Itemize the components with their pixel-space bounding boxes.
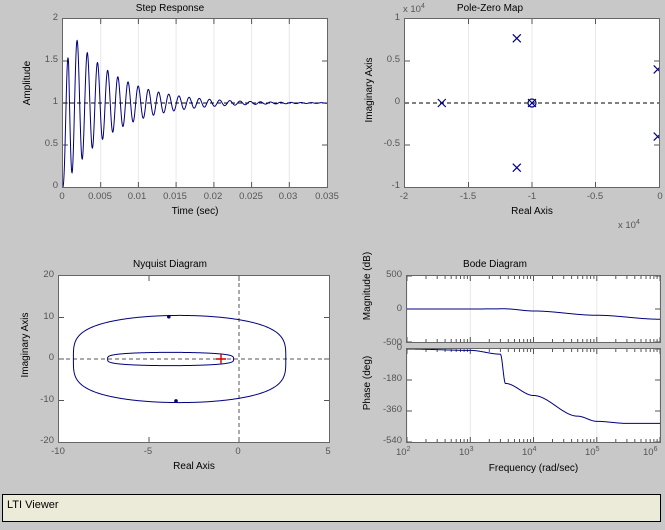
bode-mag-ytick-500: 500	[372, 269, 402, 280]
bode-xtick-1e4: 104	[522, 446, 536, 458]
pz-ytick-0: 0	[380, 96, 400, 107]
pole-zero-map-panel[interactable]: Pole-Zero Map x 104	[340, 0, 665, 245]
nyq-ytick-0: 0	[30, 352, 54, 363]
step-xtick-001: 0.01	[122, 191, 152, 202]
nyq-ytick-20: 20	[30, 269, 54, 280]
nyquist-plot-area	[59, 276, 329, 442]
step-response-plot-area	[63, 19, 327, 187]
lti-viewer-window: Step Response	[0, 0, 665, 530]
nyq-xtick-0: 0	[224, 446, 252, 457]
step-ytick-1p5: 1.5	[34, 54, 58, 65]
nyquist-critical-point-marker	[216, 354, 226, 364]
nyq-xtick-5: 5	[314, 446, 342, 457]
bode-xtick-1e5: 105	[585, 446, 599, 458]
pz-xtick-m0p5: -0.5	[580, 191, 610, 202]
pzmap-y-multiplier: x 104	[403, 3, 425, 15]
nyq-xtick-m5: -5	[134, 446, 162, 457]
step-xtick-0: 0	[47, 191, 77, 202]
pz-xtick-m2: -2	[390, 191, 418, 202]
bode-xtick-1e3: 103	[459, 446, 473, 458]
status-bar-text: LTI Viewer	[7, 499, 59, 511]
status-bar: LTI Viewer	[2, 494, 661, 522]
step-xaxis-label: Time (sec)	[62, 206, 328, 217]
nyquist-diagram-panel[interactable]: Nyquist Diagram	[0, 255, 340, 495]
pz-ytick-1: 1	[380, 12, 400, 23]
nyquist-direction-marker	[167, 315, 171, 319]
step-xtick-002: 0.02	[198, 191, 228, 202]
critical-point-plus-marker	[216, 354, 226, 364]
pole-marker-x	[654, 133, 659, 141]
pole-marker-x	[654, 65, 659, 73]
bode-magnitude-axes[interactable]	[406, 275, 661, 343]
step-response-curve	[63, 40, 327, 187]
pole-zero-map-axes[interactable]	[404, 18, 660, 188]
step-response-panel[interactable]: Step Response	[0, 0, 340, 245]
bode-xaxis-label: Frequency (rad/sec)	[406, 463, 661, 474]
bode-phase-plot-area	[407, 349, 660, 442]
pzmap-x-multiplier: x 104	[618, 219, 640, 231]
nyq-xaxis-label: Real Axis	[58, 461, 330, 472]
pz-xaxis-label: Real Axis	[404, 206, 660, 217]
step-xtick-0025: 0.025	[236, 191, 266, 202]
pz-ytick-0p5: 0.5	[374, 54, 400, 65]
pole-zero-plot-area	[405, 19, 659, 187]
nyq-ytick-m20: -20	[26, 435, 54, 446]
step-yaxis-label: Amplitude	[22, 28, 33, 138]
bode-phase-yaxis-label: Phase (deg)	[362, 323, 373, 443]
pz-yaxis-label: Imaginary Axis	[364, 20, 375, 160]
step-ytick-2: 2	[34, 12, 58, 23]
bode-diagram-panel[interactable]: Bode Diagram 500 0 -500 0 -180 -360 -540…	[340, 255, 665, 495]
pz-xtick-0: 0	[646, 191, 665, 202]
bode-xtick-1e6: 106	[643, 446, 657, 458]
step-xtick-0035: 0.035	[311, 191, 343, 202]
step-ytick-0p5: 0.5	[34, 138, 58, 149]
pole-marker-x	[513, 34, 521, 42]
bode-phase-axes[interactable]	[406, 348, 661, 443]
step-xtick-0005: 0.005	[85, 191, 115, 202]
pz-xtick-m1: -1	[518, 191, 546, 202]
nyquist-diagram-axes[interactable]	[58, 275, 330, 443]
step-xtick-003: 0.03	[273, 191, 303, 202]
pz-xtick-m1p5: -1.5	[453, 191, 483, 202]
step-ytick-0: 0	[34, 180, 58, 191]
pole-marker-x	[513, 164, 521, 172]
step-xtick-0015: 0.015	[160, 191, 190, 202]
nyq-yaxis-label: Imaginary Axis	[20, 275, 31, 415]
bode-ph-ytick-0: 0	[372, 342, 402, 353]
bode-mag-ytick-0: 0	[372, 303, 402, 314]
nyquist-direction-marker	[174, 399, 178, 403]
step-ytick-1: 1	[34, 96, 58, 107]
nyq-ytick-10: 10	[30, 311, 54, 322]
step-response-axes[interactable]	[62, 18, 328, 188]
nyq-xtick-m10: -10	[44, 446, 72, 457]
pz-ytick-m1: -1	[376, 180, 400, 191]
bode-xtick-1e2: 102	[396, 446, 410, 458]
pole-marker-x	[438, 99, 446, 107]
bode-magnitude-plot-area	[407, 276, 660, 342]
